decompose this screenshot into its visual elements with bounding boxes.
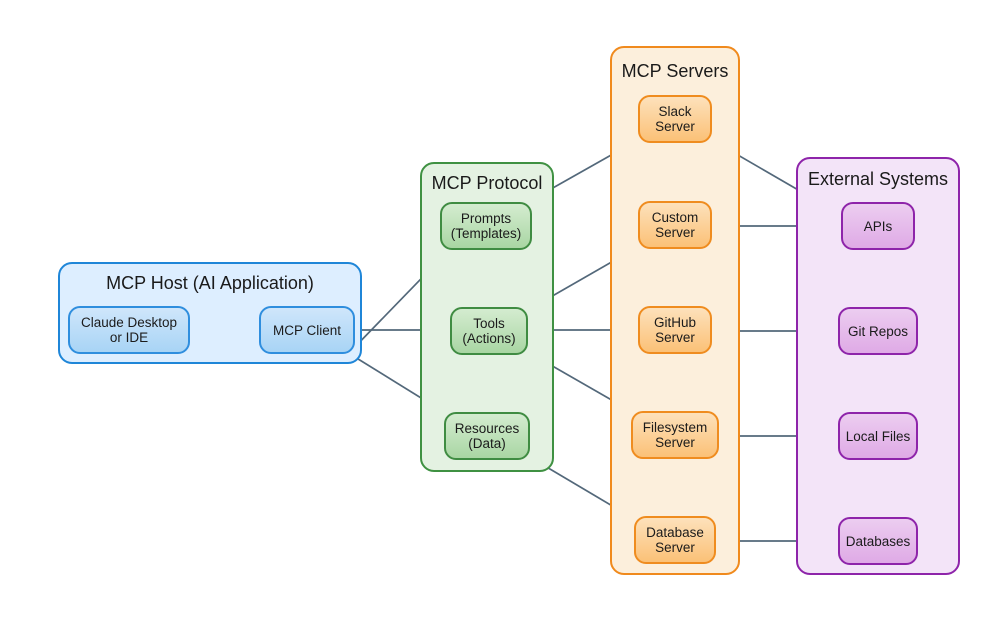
node-slack-line1: Slack <box>655 104 695 119</box>
node-local-files[interactable]: Local Files <box>838 412 918 460</box>
node-git-repos[interactable]: Git Repos <box>838 307 918 355</box>
group-mcp-servers-title: MCP Servers <box>612 61 738 82</box>
group-mcp-protocol-title: MCP Protocol <box>422 173 552 194</box>
node-databases[interactable]: Databases <box>838 517 918 565</box>
node-tools-line1: Tools <box>462 316 515 331</box>
group-mcp-host-title: MCP Host (AI Application) <box>60 273 360 294</box>
node-custom-line1: Custom <box>652 210 699 225</box>
node-apis-label: APIs <box>864 219 893 234</box>
node-claude-desktop-or-ide[interactable]: Claude Desktop or IDE <box>68 306 190 354</box>
diagram-canvas: MCP Host (AI Application) Claude Desktop… <box>0 0 1008 630</box>
node-local-files-label: Local Files <box>846 429 911 444</box>
node-tools-line2: (Actions) <box>462 331 515 346</box>
node-tools-actions[interactable]: Tools (Actions) <box>450 307 528 355</box>
node-git-repos-label: Git Repos <box>848 324 908 339</box>
group-external-systems-title: External Systems <box>798 169 958 190</box>
node-github-line2: Server <box>654 330 696 345</box>
node-resources-data[interactable]: Resources (Data) <box>444 412 530 460</box>
node-prompts-templates[interactable]: Prompts (Templates) <box>440 202 532 250</box>
node-databases-label: Databases <box>846 534 911 549</box>
node-filesystem-server[interactable]: Filesystem Server <box>631 411 719 459</box>
node-custom-server[interactable]: Custom Server <box>638 201 712 249</box>
node-resources-line2: (Data) <box>455 436 520 451</box>
node-apis[interactable]: APIs <box>841 202 915 250</box>
node-database-line2: Server <box>646 540 704 555</box>
node-slack-line2: Server <box>655 119 695 134</box>
node-claude-line1: Claude Desktop <box>81 315 177 330</box>
node-mcp-client-line1: MCP Client <box>273 323 341 338</box>
node-claude-line2: or IDE <box>81 330 177 345</box>
node-database-line1: Database <box>646 525 704 540</box>
node-slack-server[interactable]: Slack Server <box>638 95 712 143</box>
node-database-server[interactable]: Database Server <box>634 516 716 564</box>
node-github-line1: GitHub <box>654 315 696 330</box>
node-prompts-line1: Prompts <box>451 211 522 226</box>
node-custom-line2: Server <box>652 225 699 240</box>
node-mcp-client[interactable]: MCP Client <box>259 306 355 354</box>
node-filesystem-line1: Filesystem <box>643 420 708 435</box>
node-github-server[interactable]: GitHub Server <box>638 306 712 354</box>
node-resources-line1: Resources <box>455 421 520 436</box>
node-filesystem-line2: Server <box>643 435 708 450</box>
node-prompts-line2: (Templates) <box>451 226 522 241</box>
